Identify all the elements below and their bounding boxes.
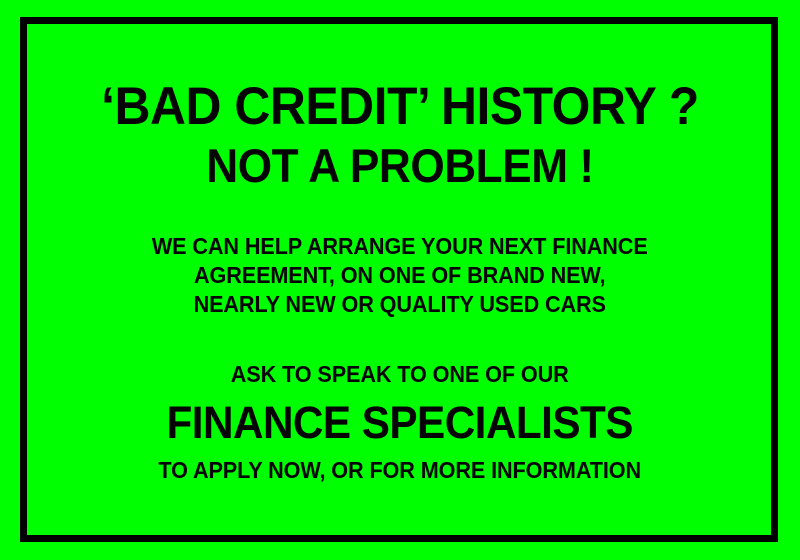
cta-ask-line: ASK TO SPEAK TO ONE OF OUR <box>159 360 642 389</box>
call-to-action-block: ASK TO SPEAK TO ONE OF OUR FINANCE SPECI… <box>143 360 656 485</box>
body-paragraph: WE CAN HELP ARRANGE YOUR NEXT FINANCE AG… <box>136 232 663 319</box>
body-line-3: NEARLY NEW OR QUALITY USED CARS <box>152 290 648 319</box>
poster-content: ‘BAD CREDIT’ HISTORY ? NOT A PROBLEM ! W… <box>0 0 800 560</box>
headline-line-2: NOT A PROBLEM ! <box>101 139 699 193</box>
cta-finance-specialists: FINANCE SPECIALISTS <box>159 397 642 449</box>
headline-block: ‘BAD CREDIT’ HISTORY ? NOT A PROBLEM ! <box>82 79 718 193</box>
advertisement-poster: ‘BAD CREDIT’ HISTORY ? NOT A PROBLEM ! W… <box>0 0 800 560</box>
cta-apply-line: TO APPLY NOW, OR FOR MORE INFORMATION <box>159 456 642 485</box>
body-line-2: AGREEMENT, ON ONE OF BRAND NEW, <box>152 261 648 290</box>
body-line-1: WE CAN HELP ARRANGE YOUR NEXT FINANCE <box>152 232 648 261</box>
headline-line-1: ‘BAD CREDIT’ HISTORY ? <box>101 79 699 135</box>
